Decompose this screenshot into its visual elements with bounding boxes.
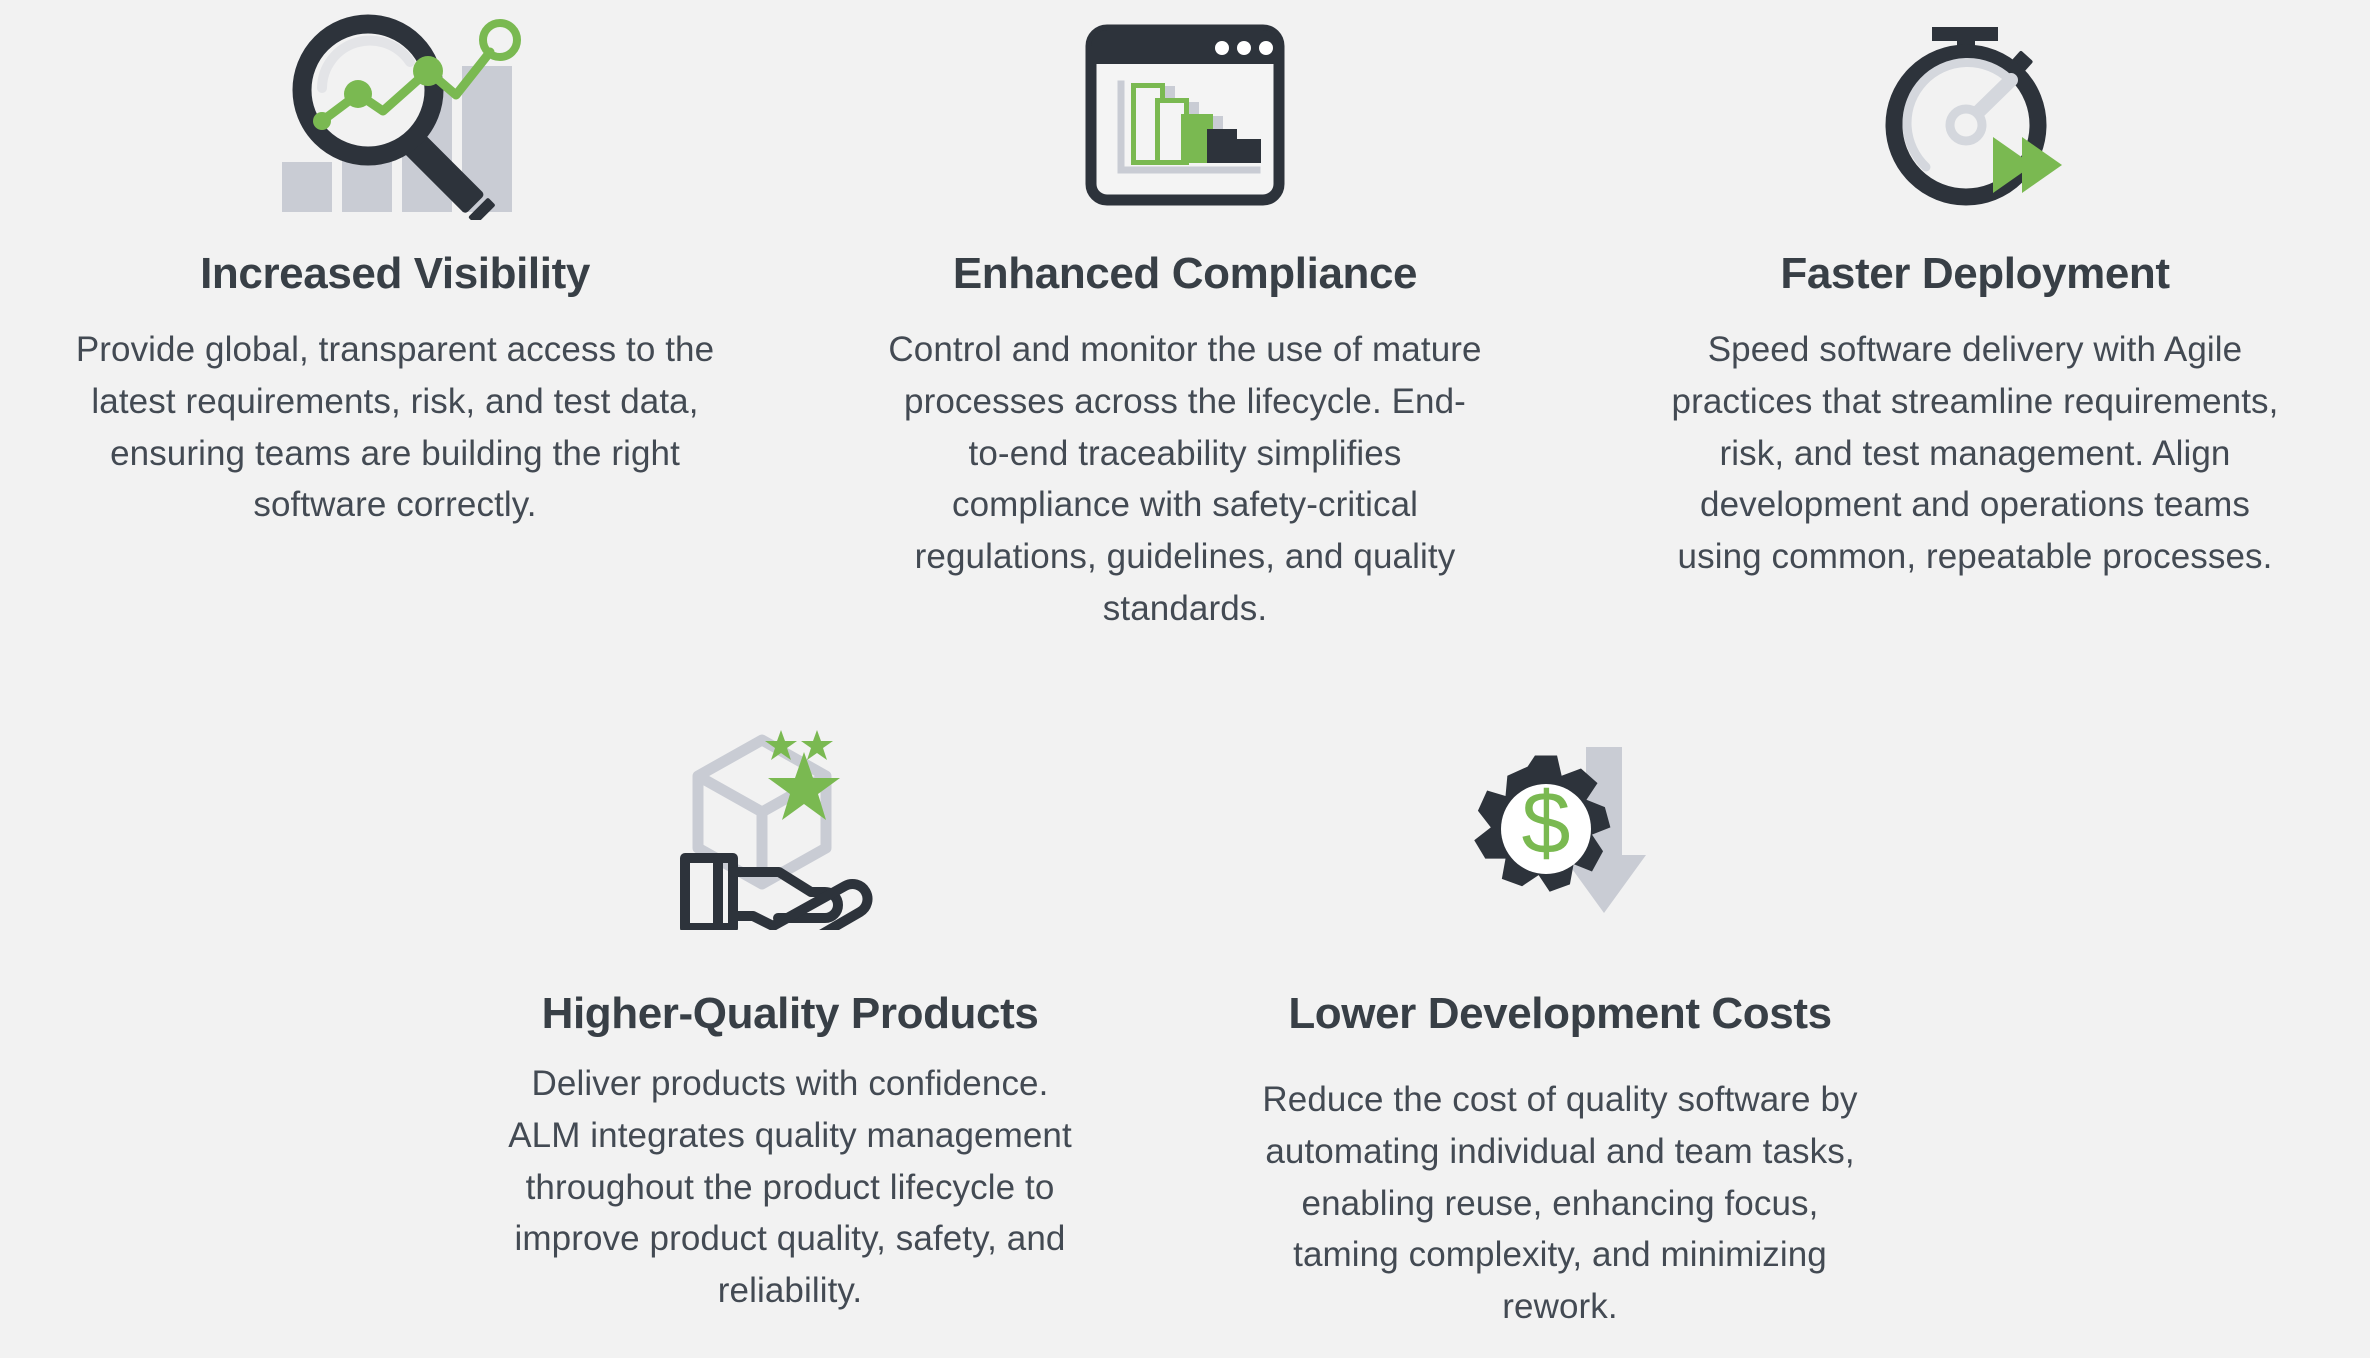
card-title: Increased Visibility <box>200 248 590 306</box>
gear-dollar-arrow-down-icon: $ <box>1460 700 1660 960</box>
card-title: Enhanced Compliance <box>953 248 1417 306</box>
stopwatch-fastforward-icon <box>1870 0 2080 230</box>
svg-text:$: $ <box>1522 773 1571 872</box>
card-body: Deliver products with confidence. ALM in… <box>500 1058 1080 1317</box>
card-body: Control and monitor the use of mature pr… <box>885 324 1485 635</box>
benefit-card-lower-development-costs: $ Lower Development Costs Reduce the cos… <box>1175 700 1945 1333</box>
card-body: Speed software delivery with Agile pract… <box>1655 324 2295 583</box>
benefit-card-faster-deployment: Faster Deployment Speed software deliver… <box>1580 0 2370 635</box>
magnifier-chart-icon <box>260 0 530 230</box>
benefit-card-enhanced-compliance: Enhanced Compliance Control and monitor … <box>790 0 1580 635</box>
card-title: Higher-Quality Products <box>542 988 1039 1046</box>
card-title: Faster Deployment <box>1780 248 2169 306</box>
benefit-card-increased-visibility: Increased Visibility Provide global, tra… <box>0 0 790 635</box>
benefits-row-1: Increased Visibility Provide global, tra… <box>0 0 2370 635</box>
browser-bar-chart-icon <box>1085 0 1285 230</box>
card-title: Lower Development Costs <box>1288 988 1831 1046</box>
card-body: Provide global, transparent access to th… <box>75 324 715 531</box>
hand-holding-box-star-icon <box>680 700 900 960</box>
benefits-grid: Increased Visibility Provide global, tra… <box>0 0 2370 1358</box>
benefits-row-2: Higher-Quality Products Deliver products… <box>0 700 2370 1333</box>
benefit-card-higher-quality-products: Higher-Quality Products Deliver products… <box>405 700 1175 1333</box>
card-body: Reduce the cost of quality software by a… <box>1250 1074 1870 1333</box>
